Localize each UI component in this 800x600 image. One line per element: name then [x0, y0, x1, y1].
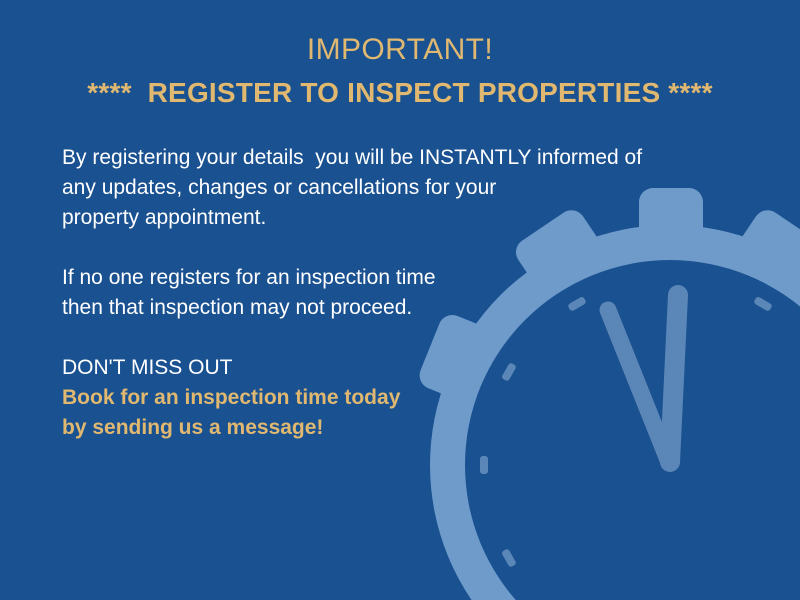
slide-content: IMPORTANT! **** REGISTER TO INSPECT PROP… — [0, 0, 800, 600]
paragraph2-line2: then that inspection may not proceed. — [62, 293, 722, 323]
paragraph-spacer-1 — [62, 233, 722, 263]
cta-book-inspection: Book for an inspection time today — [62, 383, 722, 413]
paragraph-spacer-2 — [62, 323, 722, 353]
paragraph-no-registration-warning: If no one registers for an inspection ti… — [62, 263, 722, 323]
paragraph1-line2: any updates, changes or cancellations fo… — [62, 173, 722, 203]
paragraph-registering-benefits: By registering your details you will be … — [62, 143, 722, 233]
cta-send-message: by sending us a message! — [62, 413, 722, 443]
body-block: By registering your details you will be … — [62, 143, 722, 443]
paragraph2-line1: If no one registers for an inspection ti… — [62, 263, 722, 293]
headline-important: IMPORTANT! — [0, 30, 800, 70]
headline-register: **** REGISTER TO INSPECT PROPERTIES **** — [0, 72, 800, 114]
promo-slide: IMPORTANT! **** REGISTER TO INSPECT PROP… — [0, 0, 800, 600]
cta-dont-miss-out: DON'T MISS OUT — [62, 353, 722, 383]
paragraph1-line1: By registering your details you will be … — [62, 143, 722, 173]
paragraph1-line3: property appointment. — [62, 203, 722, 233]
headline-block: IMPORTANT! **** REGISTER TO INSPECT PROP… — [0, 30, 800, 114]
paragraph-call-to-action: DON'T MISS OUT Book for an inspection ti… — [62, 353, 722, 443]
